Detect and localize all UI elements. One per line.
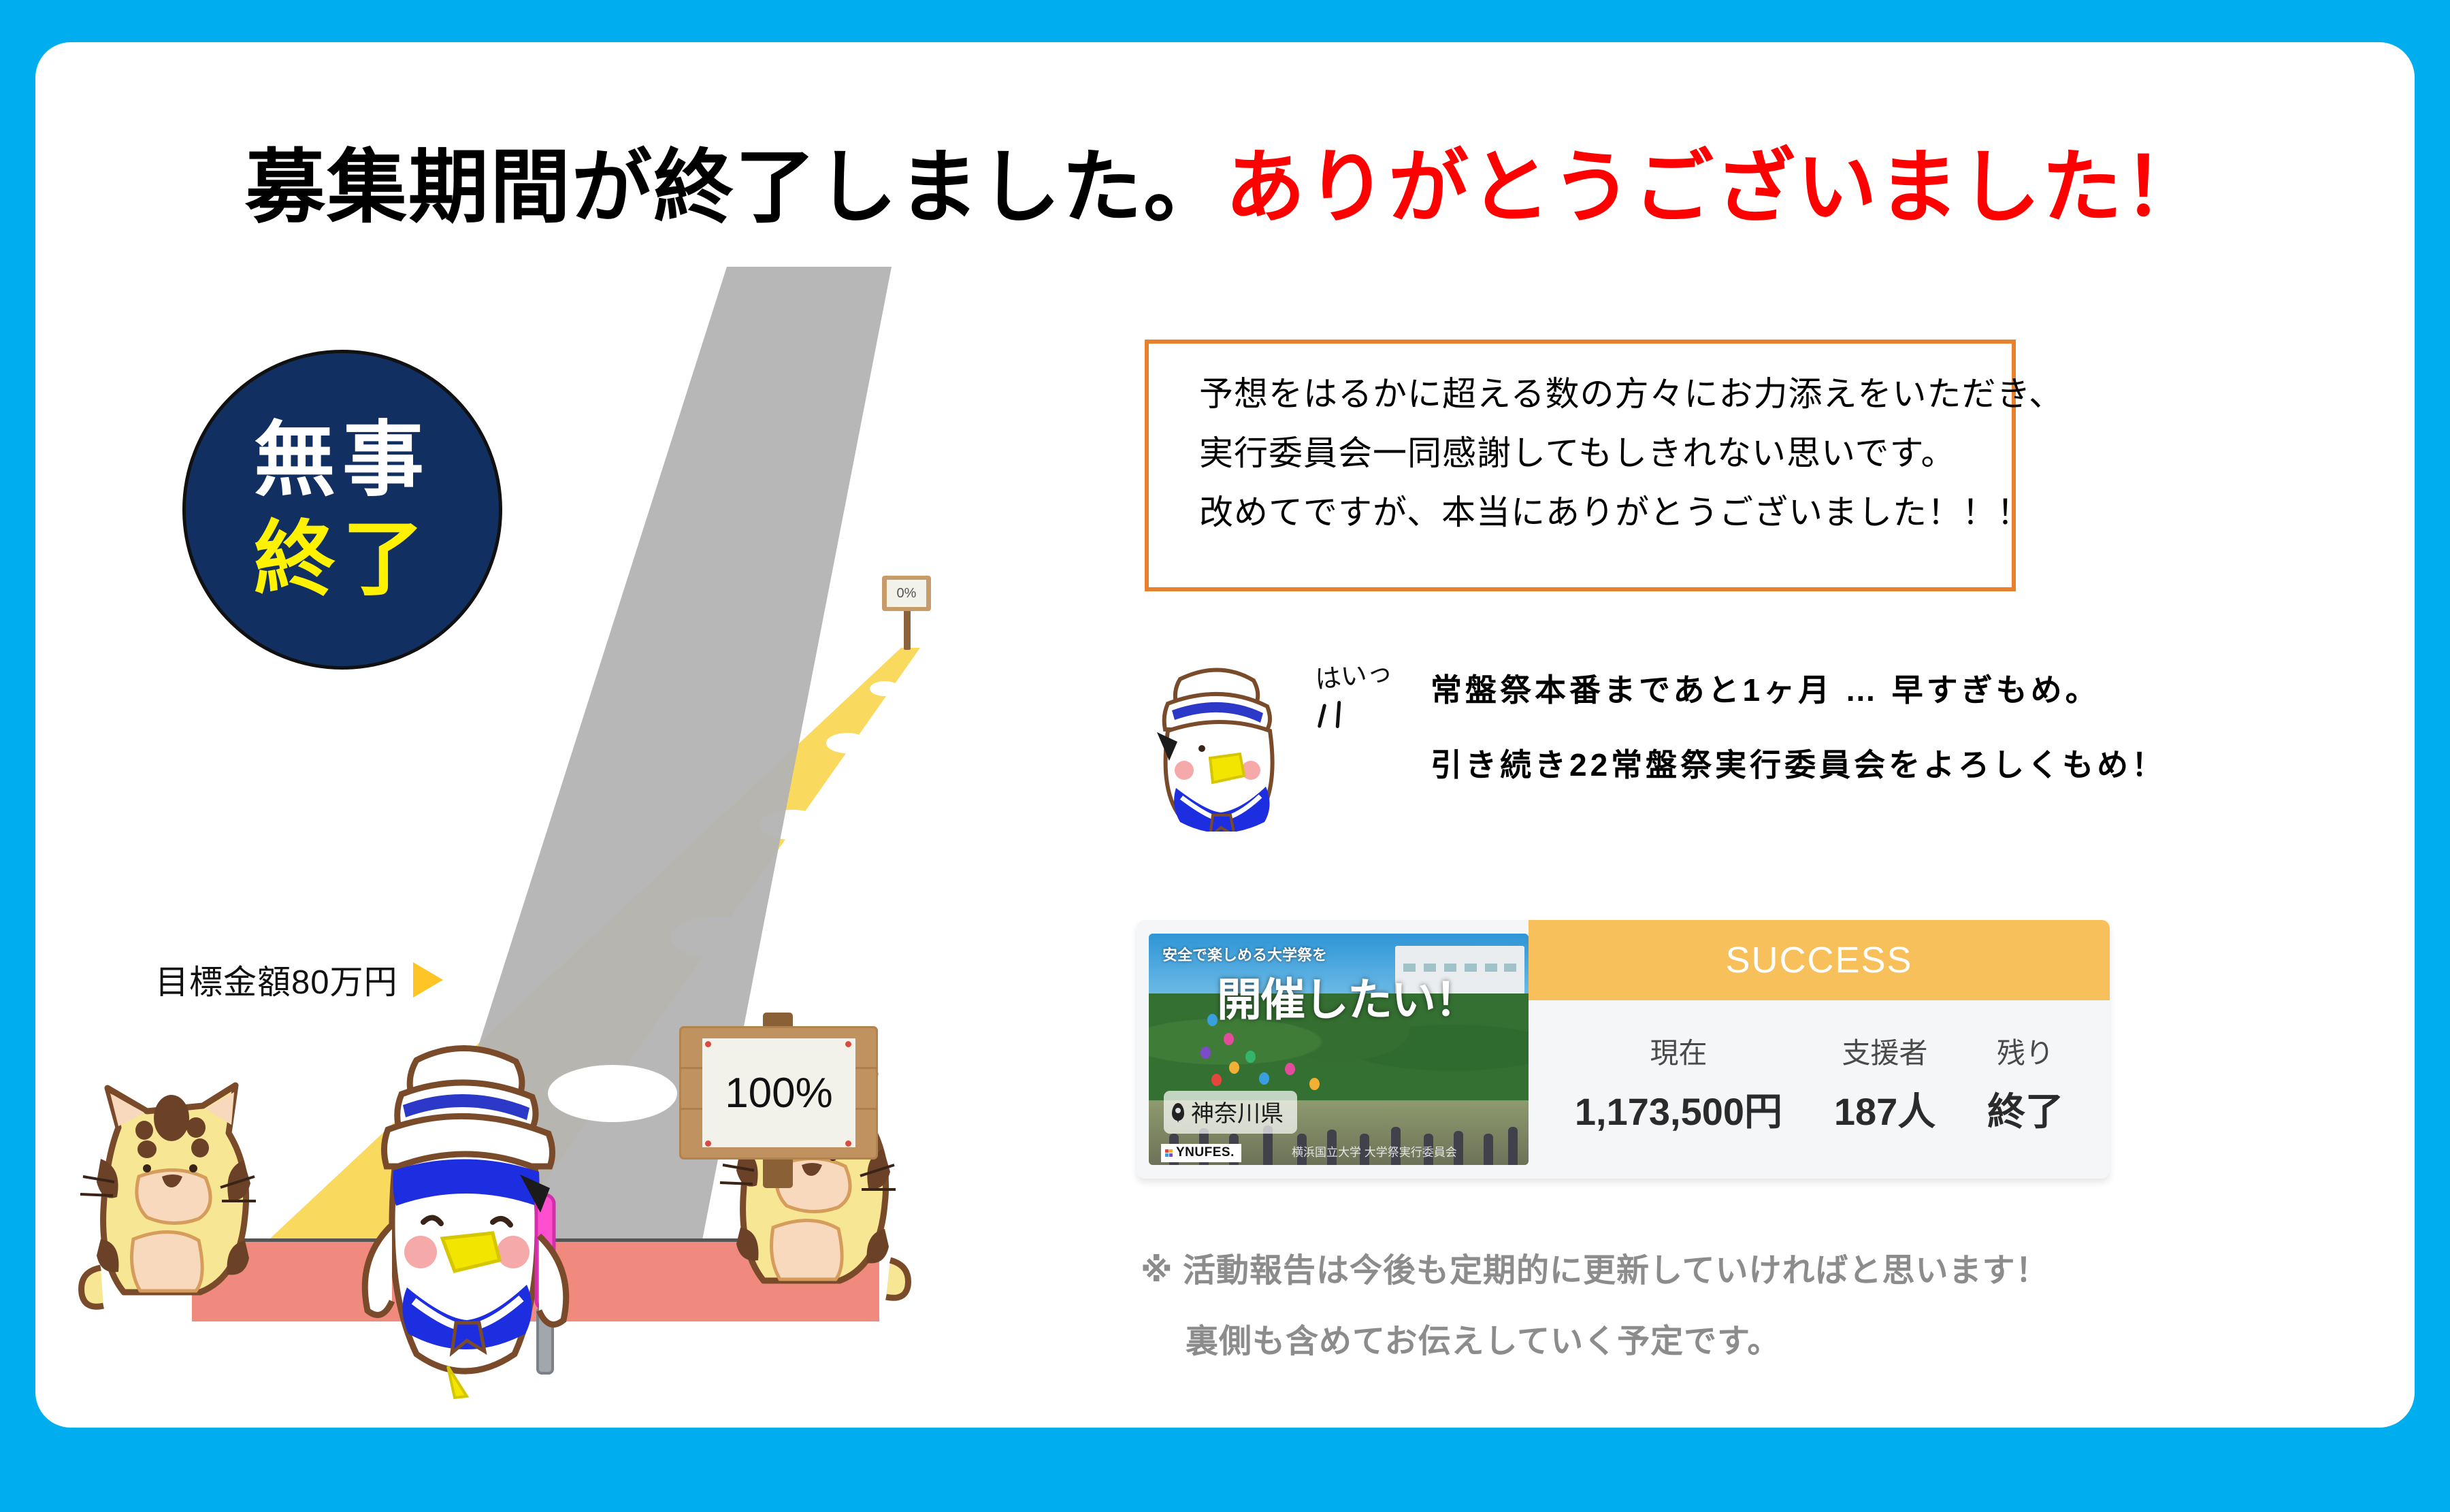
thumbnail-tagline: 安全で楽しめる大学祭を [1162, 943, 1327, 965]
status-bar: SUCCESS [1529, 920, 2110, 1000]
footnote-line-2: 裏側も含めてお伝えしていく予定です。 [1141, 1314, 2049, 1362]
badge-line-2: 終了 [254, 510, 431, 609]
page-frame: 募集期間が終了しました。ありがとうございました！ [0, 0, 2450, 1470]
stat-current: 現在 1,173,500円 [1575, 1030, 1782, 1136]
mascot-speech-section: はいっ 常盤祭本番まであと1ヶ月 … 早すぎもめ。 引き続き22常盤祭実行委員会… [1145, 661, 2166, 832]
play-triangle-icon [413, 962, 443, 998]
penguin-mascot-large [321, 1034, 607, 1415]
sign-paper: 100% [702, 1038, 855, 1147]
badge-line-1: 無事 [254, 410, 431, 510]
emphasis-line-icon [1336, 701, 1341, 728]
stat-label: 現在 [1575, 1030, 1782, 1072]
thank-you-message-box: 予想をはるかに超える数の方々にお力添えをいただき、 実行委員会一同感謝してもしき… [1145, 340, 2016, 591]
page-title-black: 募集期間が終了しました。 [245, 143, 1225, 233]
footnote-line-1: ※ 活動報告は今後も定期的に更新していければと思います！ [1141, 1243, 2049, 1291]
speech-line-2: 引き続き22常盤祭実行委員会をよろしくもめ！ [1431, 740, 2166, 785]
stat-label: 残り [1987, 1030, 2063, 1072]
footnote: ※ 活動報告は今後も定期的に更新していければと思います！ 裏側も含めてお伝えして… [1141, 1243, 2049, 1385]
right-column: 予想をはるかに超える数の方々にお力添えをいただき、 実行委員会一同感謝してもしき… [1124, 42, 2450, 1512]
progress-sign-0: 0% [874, 566, 939, 658]
pin-icon [845, 1041, 851, 1047]
goal-amount-label: 目標金額80万円 [155, 955, 443, 1004]
project-thumbnail[interactable]: 安全で楽しめる大学祭を 開催したい！ 神奈川県 横浜国立大学 大学祭実行委員会 … [1149, 934, 1529, 1165]
message-line-2: 実行委員会一同感謝してもしきれない思いです。 [1199, 433, 2012, 474]
location-badge: 神奈川県 [1164, 1091, 1297, 1134]
sign-paper: 0% [887, 580, 926, 607]
progress-illustration: 無事 終了 0% 100% [35, 267, 1097, 1424]
stat-value: 終了 [1987, 1081, 2063, 1136]
stat-label: 支援者 [1834, 1030, 1935, 1072]
content-panel: 募集期間が終了しました。ありがとうございました！ [35, 42, 2415, 1428]
status-label: SUCCESS [1725, 939, 1912, 981]
thumbnail-headline: 開催したい！ [1217, 964, 1478, 1029]
status-badge: 無事 終了 [182, 350, 502, 670]
cat-left-illustration [76, 1073, 280, 1318]
message-line-1: 予想をはるかに超える数の方々にお力添えをいただき、 [1199, 374, 2012, 415]
goal-amount-text: 目標金額80万円 [155, 955, 398, 1004]
sign-0-label: 0% [897, 586, 917, 602]
progress-sign-100: 100% [670, 993, 887, 1198]
map-pin-icon [1172, 1103, 1184, 1121]
pin-icon [705, 1140, 711, 1147]
emphasis-line-icon [1318, 704, 1327, 728]
logo-squares-icon [1165, 1149, 1173, 1157]
project-card[interactable]: 安全で楽しめる大学祭を 開催したい！ 神奈川県 横浜国立大学 大学祭実行委員会 … [1137, 920, 2110, 1179]
project-stats: 現在 1,173,500円 支援者 187人 残り 終了 [1529, 1000, 2110, 1179]
pin-icon [705, 1041, 711, 1047]
stat-remaining: 残り 終了 [1987, 1030, 2063, 1136]
speech-line-1: 常盤祭本番まであと1ヶ月 … 早すぎもめ。 [1431, 665, 2166, 710]
project-card-side: SUCCESS 現在 1,173,500円 支援者 187人 残り [1529, 920, 2110, 1179]
stat-value: 1,173,500円 [1575, 1081, 1782, 1136]
pin-icon [845, 1140, 851, 1147]
stat-supporters: 支援者 187人 [1834, 1030, 1935, 1136]
location-label: 神奈川県 [1191, 1095, 1284, 1128]
message-line-3: 改めてですが、本当にありがとうございました！！！ [1199, 492, 2012, 533]
stat-value: 187人 [1834, 1081, 1935, 1136]
speech-lines: 常盤祭本番まであと1ヶ月 … 早すぎもめ。 引き続き22常盤祭実行委員会をよろし… [1431, 665, 2166, 815]
sign-100-label: 100% [725, 1069, 833, 1117]
logo-text: YNUFES. [1176, 1145, 1235, 1160]
thumbnail-credit: 横浜国立大学 大学祭実行委員会 [1292, 1143, 1457, 1160]
penguin-mascot-small [1145, 661, 1308, 832]
speech-bubble-text: はいっ [1313, 651, 1394, 696]
ynufes-logo: YNUFES. [1161, 1144, 1241, 1162]
